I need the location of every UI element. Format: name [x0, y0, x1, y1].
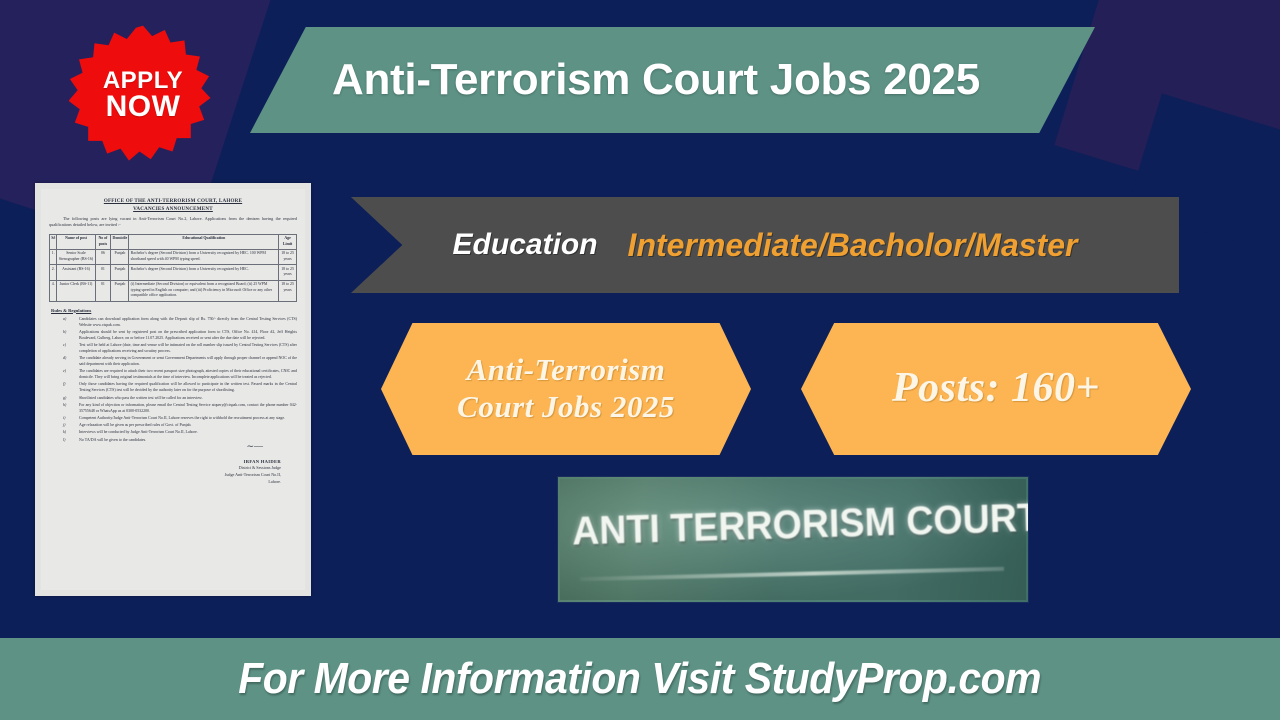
th-sno: S#	[50, 234, 57, 249]
list-item: j)Age relaxation will be given as per pr…	[79, 422, 297, 428]
education-ribbon: Education Intermediate/Bacholor/Master	[351, 197, 1179, 293]
rule-marker: b)	[63, 329, 66, 335]
handwritten-signature-icon: ∼—	[49, 444, 297, 449]
rule-text: Only those candidates having the require…	[79, 381, 297, 392]
list-item: i)Competent Authority/Judge Anti-Terrori…	[79, 415, 297, 421]
document-intro-paragraph: The following posts are lying vacant in …	[49, 216, 297, 229]
table-row: 4. Junior Clerk (BS-11) 01 Punjab (i) In…	[50, 280, 297, 301]
document-heading-office: OFFICE OF THE ANTI-TERRORISM COURT, LAHO…	[49, 198, 297, 204]
rule-text: Age relaxation will be given as per pres…	[79, 422, 191, 427]
title-banner: Anti-Terrorism Court Jobs 2025	[250, 27, 1095, 133]
poster-canvas: APPLY NOW Anti-Terrorism Court Jobs 2025…	[0, 0, 1280, 720]
rules-heading: Rules & Regulations	[51, 308, 297, 313]
signatory-name: IRFAN HAIDER	[49, 458, 281, 465]
rule-marker: a)	[63, 316, 66, 322]
cell-domicile: Punjab	[111, 280, 129, 301]
rule-marker: d)	[63, 355, 66, 361]
rule-marker: i)	[63, 415, 65, 421]
advertisement-document-image[interactable]: OFFICE OF THE ANTI-TERRORISM COURT, LAHO…	[35, 183, 311, 596]
rule-text: Applications should be sent by registere…	[79, 329, 297, 340]
cell-posts: 06	[95, 249, 111, 264]
rule-text: Shortlisted candidates who pass the writ…	[79, 395, 203, 400]
education-label: Education	[453, 228, 598, 262]
document-page: OFFICE OF THE ANTI-TERRORISM COURT, LAHO…	[41, 189, 305, 590]
list-item: g)Shortlisted candidates who pass the wr…	[79, 395, 297, 401]
cell-posts: 01	[95, 280, 111, 301]
list-item: h)For any kind of objection or informati…	[79, 402, 297, 414]
th-posts: No of posts	[95, 234, 111, 249]
rule-text: The candidate already serving in Governm…	[79, 355, 297, 366]
rule-marker: h)	[63, 402, 66, 408]
cell-posts: 01	[95, 265, 111, 280]
list-item: k)Interviews will be conducted by Judge …	[79, 429, 297, 435]
cell-post: Senior Scale Stenographer (BS-16)	[57, 249, 95, 264]
cell-qualification: (i) Intermediate (Second Division) or eq…	[129, 280, 279, 301]
rule-marker: g)	[63, 395, 66, 401]
rule-text: For any kind of objection or information…	[79, 402, 297, 413]
footer-bar: For More Information Visit StudyProp.com	[0, 638, 1280, 720]
apply-now-badge[interactable]: APPLY NOW	[69, 22, 217, 170]
rule-text: Competent Authority/Judge Anti-Terrorism…	[79, 415, 285, 420]
footer-text: For More Information Visit StudyProp.com	[239, 654, 1042, 704]
education-ribbon-inner: Education Intermediate/Bacholor/Master	[351, 197, 1179, 293]
list-item: c)Test will be held at Lahore (date, tim…	[79, 342, 297, 354]
apply-now-label: APPLY NOW	[69, 22, 217, 170]
vacancies-table: S# Name of post No of posts Domicile Edu…	[49, 234, 297, 302]
table-header-row: S# Name of post No of posts Domicile Edu…	[50, 234, 297, 249]
cell-age: 18 to 25 years	[279, 280, 297, 301]
cell-qualification: Bachelor's degree (Second Division) from…	[129, 249, 279, 264]
court-sign-photo: ANTI TERRORISM COURTS	[557, 476, 1029, 603]
list-item: d)The candidate already serving in Gover…	[79, 355, 297, 367]
cell-post: Assistant (BS-16)	[57, 265, 95, 280]
list-item: f)Only those candidates having the requi…	[79, 381, 297, 393]
list-item: l)No TA/DA will be given to the candidat…	[79, 437, 297, 443]
cell-sno: 4.	[50, 280, 57, 301]
th-domicile: Domicile	[111, 234, 129, 249]
cell-age: 18 to 25 years	[279, 249, 297, 264]
rule-text: Candidates can download application form…	[79, 316, 297, 327]
apply-line-2: NOW	[106, 93, 181, 122]
table-row: 1. Senior Scale Stenographer (BS-16) 06 …	[50, 249, 297, 264]
education-value: Intermediate/Bacholor/Master	[628, 227, 1078, 264]
rule-marker: f)	[63, 381, 65, 387]
hex-badge-posts-count: Posts: 160+	[801, 323, 1191, 455]
rule-text: Interviews will be conducted by Judge An…	[79, 429, 198, 434]
cell-domicile: Punjab	[111, 249, 129, 264]
document-heading-vacancies: VACANCIES ANNOUNCEMENT	[49, 206, 297, 212]
hex-badge-job-title: Anti-Terrorism Court Jobs 2025	[381, 323, 751, 455]
signatory-title-3: Lahore.	[49, 479, 281, 486]
table-row: 2. Assistant (BS-16) 01 Punjab Bachelor'…	[50, 265, 297, 280]
rule-marker: c)	[63, 342, 66, 348]
rule-text: No TA/DA will be given to the candidates…	[79, 437, 146, 442]
th-post: Name of post	[57, 234, 95, 249]
cell-age: 18 to 25 years	[279, 265, 297, 280]
cell-sno: 2.	[50, 265, 57, 280]
hex-posts-line-1: Posts: 160+	[892, 364, 1100, 414]
hex-job-line-1: Anti-Terrorism	[467, 352, 666, 389]
list-item: a)Candidates can download application fo…	[79, 316, 297, 328]
page-title: Anti-Terrorism Court Jobs 2025	[332, 55, 980, 105]
cell-domicile: Punjab	[111, 265, 129, 280]
th-qualification: Educational Qualification	[129, 234, 279, 249]
rule-text: The candidates are required to attach th…	[79, 368, 297, 379]
th-age: Age Limit	[279, 234, 297, 249]
hex-job-line-2: Court Jobs 2025	[457, 389, 675, 426]
rule-marker: k)	[63, 429, 66, 435]
list-item: b)Applications should be sent by registe…	[79, 329, 297, 341]
rules-list: a)Candidates can download application fo…	[49, 316, 297, 443]
rule-text: Test will be held at Lahore (date, time …	[79, 342, 297, 353]
cell-sno: 1.	[50, 249, 57, 264]
signature-block: IRFAN HAIDER District & Sessions Judge J…	[49, 458, 297, 485]
list-item: e)The candidates are required to attach …	[79, 368, 297, 380]
cell-post: Junior Clerk (BS-11)	[57, 280, 95, 301]
rule-marker: e)	[63, 368, 66, 374]
cell-qualification: Bachelor's degree (Second Division) from…	[129, 265, 279, 280]
rule-marker: l)	[63, 437, 65, 443]
rule-marker: j)	[63, 422, 65, 428]
